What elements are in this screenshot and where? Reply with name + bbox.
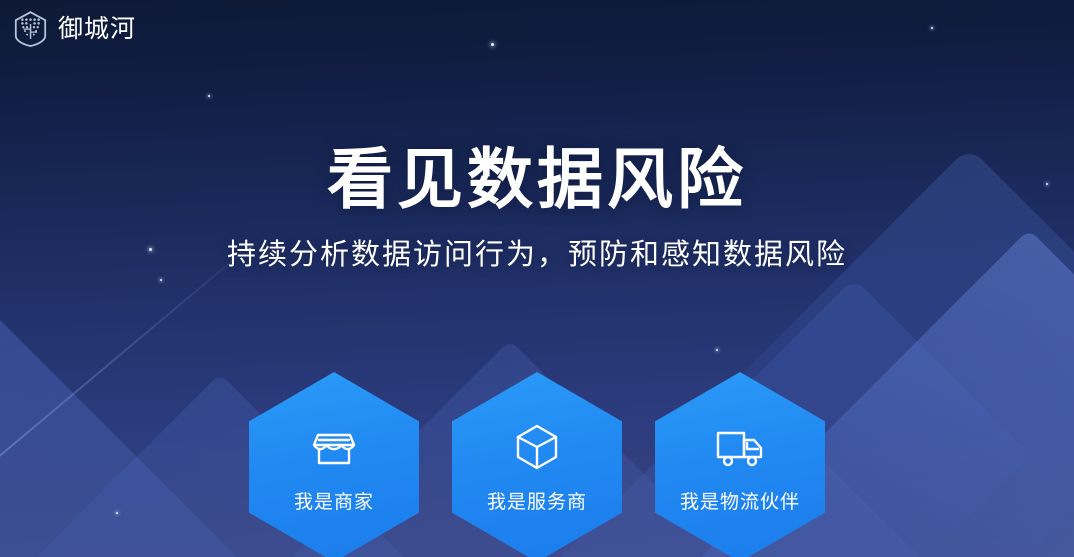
brand-name: 御城河: [58, 17, 136, 42]
site-header: 御城河: [0, 0, 1074, 58]
cta-logistics-partner-label: 我是物流伙伴: [680, 487, 800, 514]
hex-shield-tree-icon: [14, 11, 47, 47]
cta-merchant-hexagon[interactable]: 我是商家: [249, 372, 419, 557]
storefront-icon: [308, 421, 360, 473]
role-selection-row: 我是商家 我是服务商: [0, 372, 1074, 557]
star-particle: [160, 279, 162, 281]
cta-service-provider-hexagon[interactable]: 我是服务商: [452, 372, 622, 557]
cube-icon: [511, 421, 563, 473]
landing-page: 御城河 看见数据风险 持续分析数据访问行为，预防和感知数据风险 我是商家: [0, 0, 1074, 557]
truck-icon: [714, 421, 766, 473]
cta-service-provider-label: 我是服务商: [487, 487, 587, 514]
brand-logo[interactable]: 御城河: [14, 11, 136, 47]
page-subtitle: 持续分析数据访问行为，预防和感知数据风险: [0, 217, 1074, 275]
cta-logistics-partner-hexagon[interactable]: 我是物流伙伴: [655, 372, 825, 557]
star-particle: [716, 349, 718, 351]
cta-merchant-label: 我是商家: [294, 487, 374, 514]
